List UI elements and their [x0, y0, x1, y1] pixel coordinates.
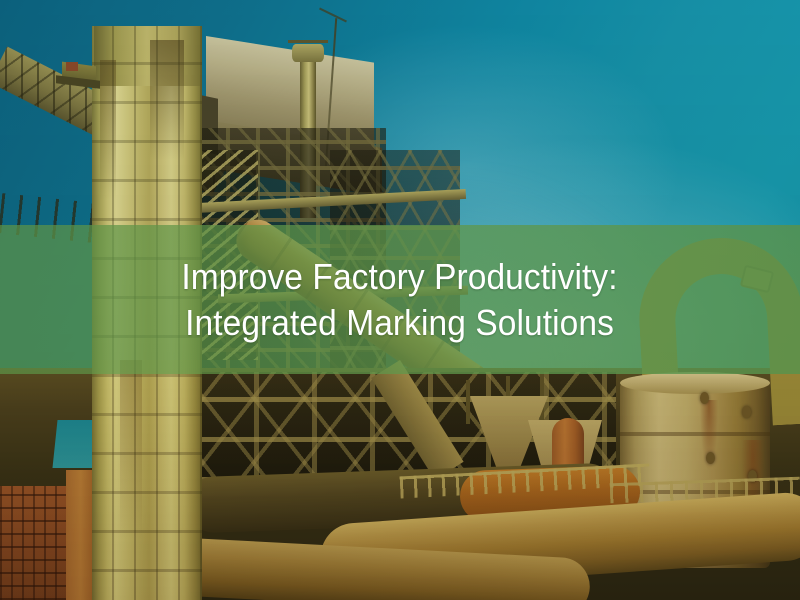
banner-hero: Improve Factory Productivity: Integrated… — [0, 0, 800, 600]
title-overlay-band: Improve Factory Productivity: Integrated… — [0, 225, 800, 374]
photo-warm-layer — [0, 360, 800, 600]
banner-title: Improve Factory Productivity: Integrated… — [182, 254, 618, 345]
